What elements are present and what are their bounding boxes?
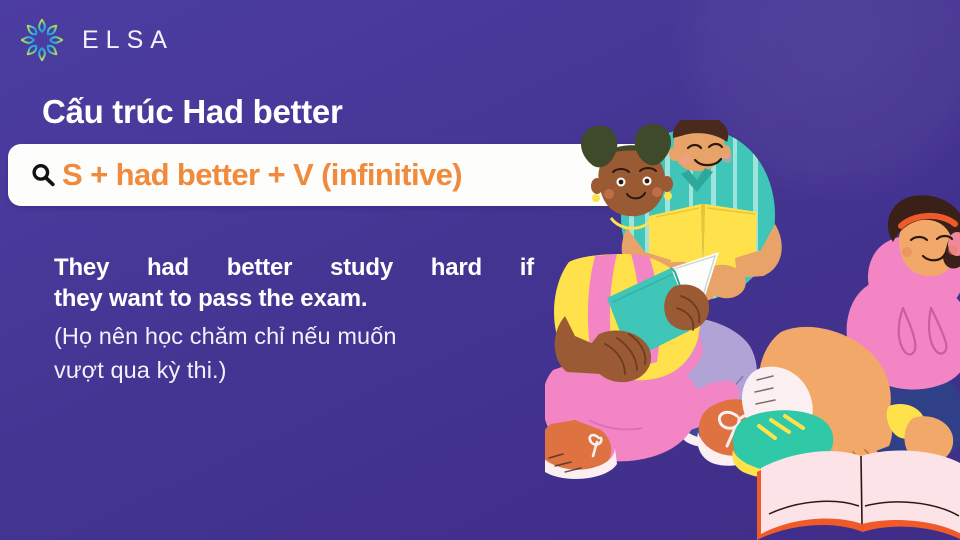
- example-block: They had better study hard if they want …: [54, 253, 534, 387]
- example-vi-block: (Họ nên học chăm chỉ nếu muốn vượt qua k…: [54, 320, 534, 387]
- elsa-flower-logo-icon: [18, 16, 66, 64]
- en-word: They: [54, 253, 109, 284]
- en-word: hard: [431, 253, 482, 284]
- illustration-svg: [545, 120, 960, 540]
- example-en-line-1: They had better study hard if: [54, 253, 534, 284]
- brand-wordmark: ELSA: [82, 26, 174, 55]
- example-en-line-2: they want to pass the exam.: [54, 284, 534, 315]
- brand-logo: ELSA: [18, 16, 174, 64]
- example-vi-line-1: (Họ nên học chăm chỉ nếu muốn: [54, 320, 534, 353]
- open-book-on-ground: [757, 451, 960, 540]
- en-word: had: [147, 253, 189, 284]
- en-word: better: [227, 253, 292, 284]
- example-vi-line-2: vượt qua kỳ thi.): [54, 354, 534, 387]
- en-word: study: [330, 253, 393, 284]
- en-word: if: [520, 253, 534, 284]
- search-icon[interactable]: [30, 162, 56, 188]
- page-title: Cấu trúc Had better: [42, 93, 343, 131]
- three-students-reading-books-illustration: [545, 120, 960, 540]
- slide-canvas: ELSA Cấu trúc Had better S + had better …: [0, 0, 960, 540]
